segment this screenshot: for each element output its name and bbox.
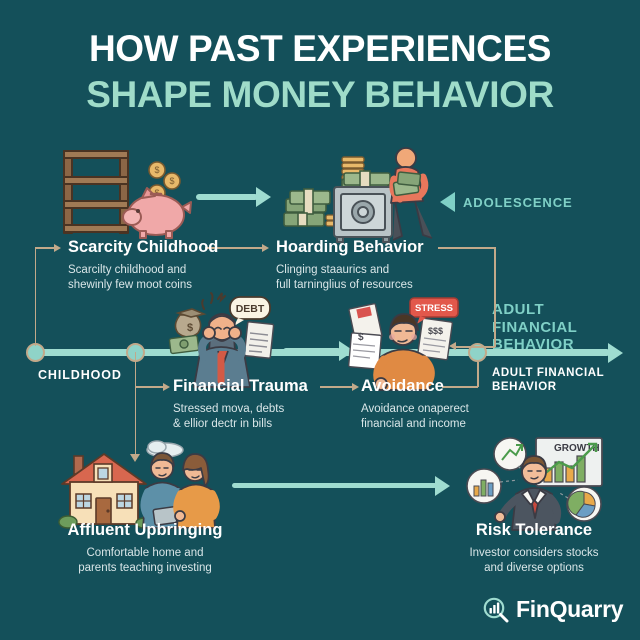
node-desc-line-2: & ellior dectr in bills xyxy=(173,417,308,432)
node-avoidance[interactable]: Avoidance Avoidance onaperect financial … xyxy=(361,377,469,431)
icon-empty-shelf-and-piggy-bank: $$$ xyxy=(58,143,188,243)
connector-hoarding-out-horizontal xyxy=(438,247,496,249)
stage-label-adult-line-1: ADULT FINANCIAL xyxy=(492,367,604,379)
node-desc-line-1: Clinging staaurics and xyxy=(276,263,424,278)
stage-label-childhood: CHILDHOOD xyxy=(38,368,122,382)
icon-stressed-man-debt: $ DEBT xyxy=(168,293,283,388)
phase-heading-line-1: ADULT xyxy=(492,301,577,319)
connector-to-financial-trauma xyxy=(135,386,165,388)
node-title-hoarding-behavior: Hoarding Behavior xyxy=(276,238,424,257)
svg-text:DEBT: DEBT xyxy=(236,303,265,315)
brand-logo[interactable]: FinQuarry xyxy=(483,596,623,623)
adolescence-marker-icon xyxy=(440,192,455,212)
node-title-financial-trauma: Financial Trauma xyxy=(173,377,308,396)
phase-heading-adult: ADULT FINANCIAL BEHAVIOR xyxy=(492,301,577,354)
svg-text:$: $ xyxy=(169,176,174,186)
node-title-scarcity-childhood: Scarcity Childhood xyxy=(68,238,218,257)
icon-investor-with-growth-charts: GROWTH xyxy=(462,436,607,530)
magnifier-bar-chart-logo-icon xyxy=(483,597,509,623)
connector-scarcity-arrow-icon xyxy=(54,244,61,252)
connector-hoarding-down-vertical xyxy=(494,247,496,347)
node-title-affluent-upbringing: Affluent Upbringing xyxy=(20,521,270,540)
node-title-risk-tolerance: Risk Tolerance xyxy=(409,521,640,540)
node-title-avoidance: Avoidance xyxy=(361,377,469,396)
node-desc-avoidance: Avoidance onaperect financial and income xyxy=(361,402,469,431)
connector-adult-node-drop xyxy=(477,362,479,387)
title-line-2: SHAPE MONEY BEHAVIOR xyxy=(0,72,640,118)
node-desc-line-2: parents teaching investing xyxy=(20,561,270,576)
node-desc-line-2: and diverse options xyxy=(409,561,640,576)
node-desc-line-1: Stressed mova, debts xyxy=(173,402,308,417)
stage-label-adult-financial-behavior: ADULT FINANCIAL BEHAVIOR xyxy=(492,367,604,393)
svg-text:$: $ xyxy=(358,332,364,343)
node-affluent-upbringing[interactable]: Affluent Upbringing Comfortable home and… xyxy=(20,521,270,575)
svg-text:$: $ xyxy=(154,165,159,175)
svg-text:$$$: $$$ xyxy=(428,326,443,336)
flow-arrow-top-line xyxy=(196,194,258,200)
node-desc-line-1: Scarcilty childhood and xyxy=(68,263,218,278)
node-desc-line-2: full tarninglius of resources xyxy=(276,278,424,293)
node-financial-trauma[interactable]: Financial Trauma Stressed mova, debts & … xyxy=(173,377,308,431)
svg-text:$: $ xyxy=(187,322,193,334)
node-desc-line-2: financial and income xyxy=(361,417,469,432)
connector-childhood-to-scarcity-vertical xyxy=(35,248,37,346)
node-desc-line-1: Avoidance onaperect xyxy=(361,402,469,417)
node-desc-financial-trauma: Stressed mova, debts & ellior dectr in b… xyxy=(173,402,308,431)
page-title: HOW PAST EXPERIENCES SHAPE MONEY BEHAVIO… xyxy=(0,26,640,118)
node-risk-tolerance[interactable]: Risk Tolerance Investor considers stocks… xyxy=(409,521,640,575)
brand-name: FinQuarry xyxy=(516,596,623,623)
connector-hoarding-arrow-icon xyxy=(262,244,269,252)
title-line-1: HOW PAST EXPERIENCES xyxy=(0,26,640,72)
node-desc-affluent-upbringing: Comfortable home and parents teaching in… xyxy=(20,546,270,575)
icon-safe-with-cash-stacks xyxy=(282,143,437,243)
node-hoarding-behavior[interactable]: Hoarding Behavior Clinging staaurics and… xyxy=(276,238,424,292)
infographic-canvas: HOW PAST EXPERIENCES SHAPE MONEY BEHAVIO… xyxy=(0,0,640,640)
node-desc-line-1: Investor considers stocks xyxy=(409,546,640,561)
connector-childhood-to-scarcity-horizontal xyxy=(35,247,55,249)
node-desc-scarcity-childhood: Scarcilty childhood and shewinly few moo… xyxy=(68,263,218,292)
node-desc-line-2: shewinly few moot coins xyxy=(68,278,218,293)
flow-arrow-top-head-icon xyxy=(256,187,271,207)
node-desc-hoarding-behavior: Clinging staaurics and full tarninglius … xyxy=(276,263,424,292)
stage-label-adult-line-2: BEHAVIOR xyxy=(492,381,604,393)
phase-heading-line-3: BEHAVIOR xyxy=(492,336,577,354)
timeline-arrow-head xyxy=(608,343,623,363)
stage-label-adolescence: ADOLESCENCE xyxy=(463,195,573,210)
node-scarcity-childhood[interactable]: Scarcity Childhood Scarcilty childhood a… xyxy=(68,238,218,292)
node-desc-risk-tolerance: Investor considers stocks and diverse op… xyxy=(409,546,640,575)
icon-house-with-parents xyxy=(60,440,225,528)
svg-text:STRESS: STRESS xyxy=(415,303,453,314)
flow-arrow-bottom-head-icon xyxy=(435,476,450,496)
phase-heading-line-2: FINANCIAL xyxy=(492,319,577,337)
flow-arrow-middle-line xyxy=(283,348,341,354)
node-desc-line-1: Comfortable home and xyxy=(20,546,270,561)
flow-arrow-bottom-line xyxy=(232,483,437,488)
